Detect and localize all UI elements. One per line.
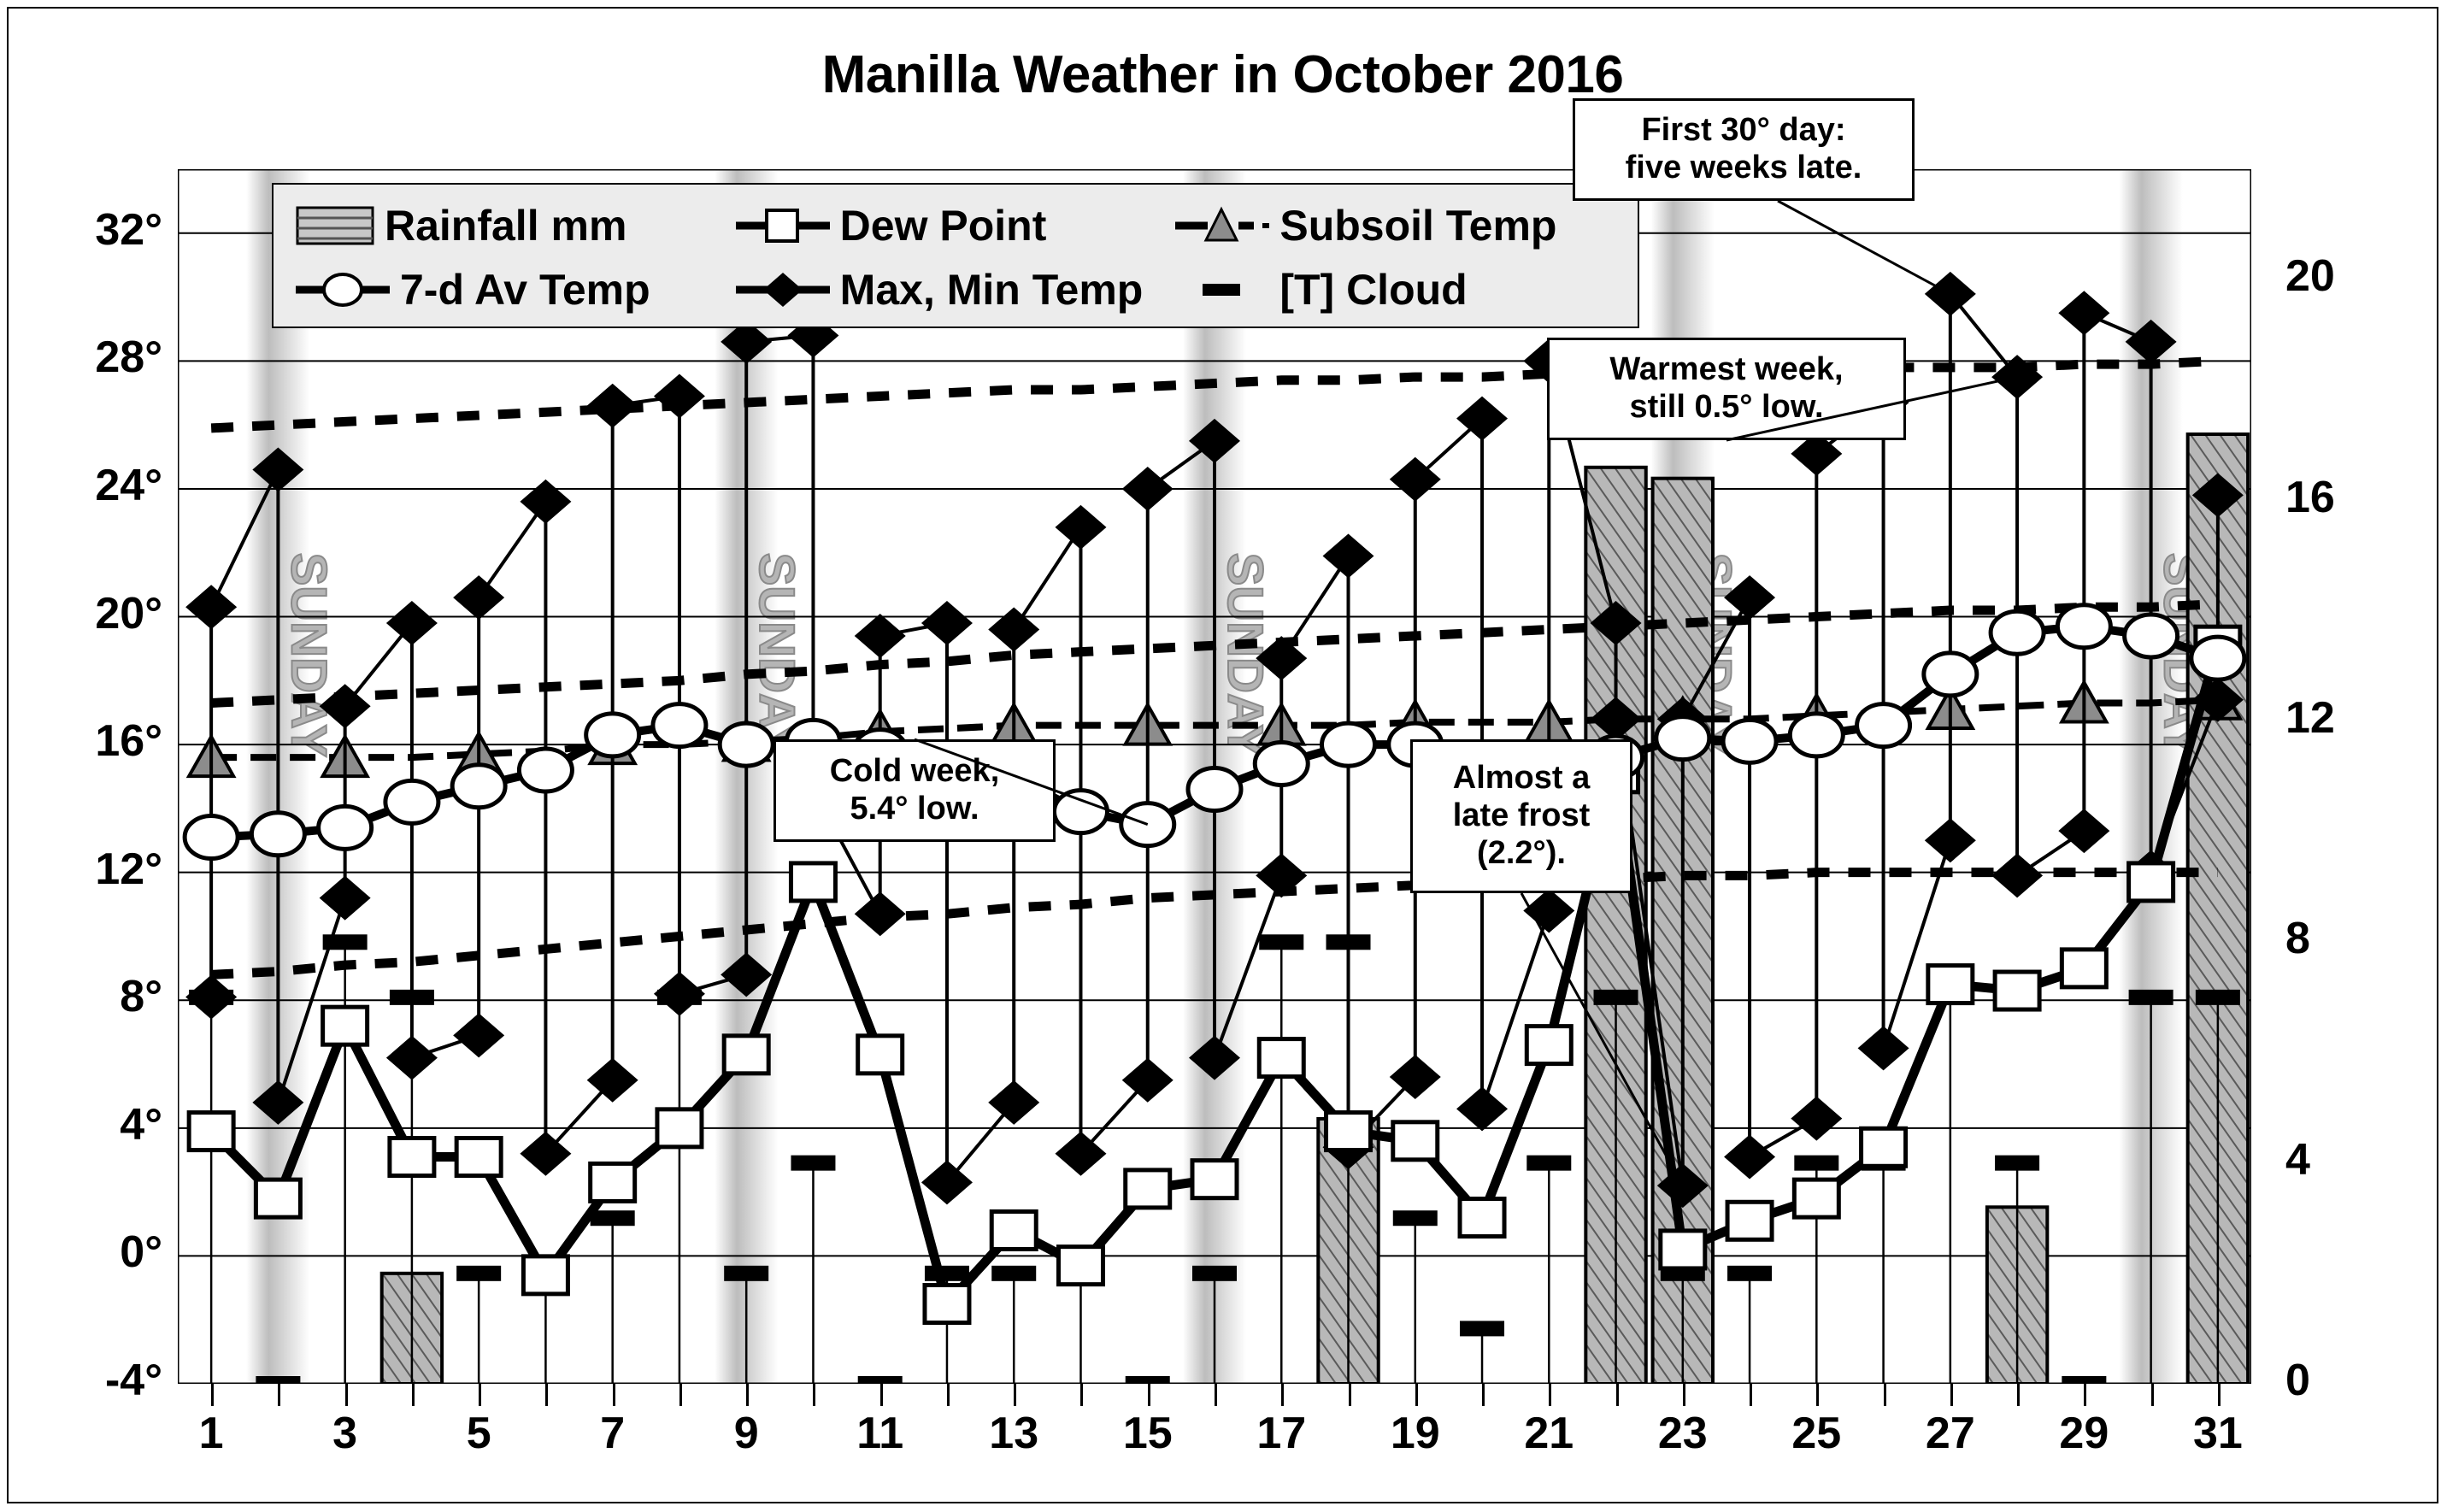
avg-marker (1723, 720, 1776, 762)
x-axis-tick (880, 1384, 883, 1406)
maxmin-marker (654, 972, 705, 1016)
avg-marker (1188, 768, 1241, 810)
cloud-marker (1192, 1266, 1237, 1281)
y-axis-tick-label: 28° (17, 332, 162, 383)
y-axis-tick-label: 0° (17, 1227, 162, 1278)
maxmin-marker (520, 1132, 571, 1176)
x-axis-tick-label: 7 (562, 1408, 664, 1459)
x-axis-tick-label: 1 (160, 1408, 262, 1459)
dewpoint-marker (657, 1109, 702, 1147)
cloud-marker (591, 1210, 635, 1226)
maxmin-marker (1390, 1055, 1441, 1099)
maxmin-marker (1925, 818, 1976, 862)
maxmin-marker (855, 891, 906, 936)
maxmin-marker (1456, 1086, 1508, 1131)
avg-marker (452, 765, 505, 808)
chart-legend: Rainfall mmDew PointSubsoil Temp7-d Av T… (272, 183, 1639, 328)
legend-item[interactable]: Rainfall mm (296, 201, 736, 250)
x-axis-tick (2017, 1384, 2020, 1406)
annotation-line: still 0.5° low. (1558, 389, 1895, 427)
annotation-line: late frost (1421, 797, 1621, 835)
y-axis-tick-label: 16° (17, 715, 162, 767)
annotation-callout-late-frost: Almost alate frost(2.2°). (1410, 739, 1632, 893)
maxmin-marker (185, 975, 237, 1020)
maxmin-marker (320, 876, 371, 921)
legend-item-label: Subsoil Temp (1279, 201, 1556, 250)
x-axis-tick (1014, 1384, 1016, 1406)
dewpoint-marker (523, 1256, 568, 1294)
y2-axis-tick-label: 4 (2285, 1134, 2388, 1185)
legend-item[interactable]: Subsoil Temp (1175, 201, 1615, 250)
avg-marker (1121, 803, 1174, 846)
x-axis-tick (746, 1384, 749, 1406)
avg-marker (519, 749, 572, 791)
x-axis-tick (1148, 1384, 1150, 1406)
x-axis-tick (1884, 1384, 1886, 1406)
cloud-marker (1794, 1156, 1838, 1171)
dewpoint-marker (591, 1163, 635, 1201)
avg-marker (720, 723, 773, 766)
avg-marker (1857, 704, 1910, 747)
cloud-marker (1393, 1210, 1438, 1226)
maxmin-marker (386, 601, 438, 645)
dewpoint-marker (791, 863, 835, 901)
y-axis-tick-label: 4° (17, 1099, 162, 1150)
x-axis-tick-label: 9 (695, 1408, 797, 1459)
dewpoint-marker (1995, 972, 2039, 1009)
maxmin-marker (1523, 889, 1574, 933)
maxmin-marker (1055, 1132, 1106, 1176)
maxmin-marker (453, 575, 504, 620)
x-axis-tick-label: 23 (1632, 1408, 1734, 1459)
y2-axis-tick-label: 0 (2285, 1355, 2388, 1406)
chart-frame: Manilla Weather in October 2016 SUNDAYSU… (7, 7, 2438, 1503)
x-axis-tick-label: 19 (1364, 1408, 1467, 1459)
dewpoint-marker (1393, 1122, 1438, 1160)
dewpoint-marker (189, 1113, 233, 1150)
annotation-callout-cold-week: Cold week,5.4° low. (774, 739, 1056, 842)
avg-marker (2057, 605, 2110, 648)
annotation-line: 5.4° low. (785, 791, 1044, 828)
maxmin-marker (2058, 291, 2109, 335)
maxmin-marker (921, 601, 973, 645)
x-axis-tick (2084, 1384, 2086, 1406)
cloud-marker (1594, 990, 1638, 1005)
dewpoint-marker (1661, 1231, 1705, 1268)
x-axis-tick (211, 1384, 214, 1406)
x-axis-tick (1482, 1384, 1485, 1406)
avg-marker (1790, 714, 1843, 756)
y2-axis-tick-label: 12 (2285, 692, 2388, 744)
x-axis-tick (345, 1384, 348, 1406)
avg-marker (1924, 653, 1977, 696)
legend-item-label: Dew Point (840, 201, 1047, 250)
x-axis-tick (813, 1384, 815, 1406)
cloud-marker (256, 1376, 300, 1384)
avg-marker (2125, 615, 2178, 657)
cloud-marker (1526, 1156, 1571, 1171)
avg-marker (586, 714, 639, 756)
dewpoint-marker (925, 1285, 969, 1323)
dewpoint-marker (2062, 950, 2106, 987)
y-axis-tick-label: 8° (17, 971, 162, 1022)
dewpoint-marker (991, 1212, 1036, 1250)
x-axis-tick (613, 1384, 615, 1406)
legend-item-label: [T] Cloud (1279, 265, 1467, 315)
dewpoint-marker (1794, 1180, 1838, 1217)
x-axis-tick (1816, 1384, 1819, 1406)
y-axis-tick-label: 24° (17, 460, 162, 511)
maxmin-marker (1122, 1058, 1174, 1103)
dewpoint-marker (2129, 863, 2173, 901)
y-axis-tick-label: 32° (17, 204, 162, 256)
cloud-marker (1995, 1156, 2039, 1171)
maxmin-marker (1256, 853, 1307, 897)
maxmin-marker (453, 1013, 504, 1057)
annotation-callout-warmest-week: Warmest week,still 0.5° low. (1547, 338, 1906, 440)
x-axis-tick (2218, 1384, 2221, 1406)
diamond-filled-marker-icon (736, 270, 830, 309)
y-axis-tick-label: 12° (17, 844, 162, 895)
circle-open-marker-icon (296, 270, 390, 309)
maxmin-marker (1858, 1026, 1909, 1070)
y-axis-tick-label: 20° (17, 588, 162, 639)
dash-marker-icon (1175, 270, 1269, 309)
maxmin-marker (587, 1058, 638, 1103)
avg-marker (251, 813, 304, 856)
cloud-marker (1259, 934, 1303, 950)
x-axis-tick (1349, 1384, 1351, 1406)
avg-marker (319, 806, 372, 849)
cloud-marker (1126, 1376, 1170, 1384)
avg-marker (185, 816, 238, 859)
x-axis-tick (1215, 1384, 1217, 1406)
dewpoint-marker (1862, 1128, 1906, 1166)
legend-item[interactable]: [T] Cloud (1175, 265, 1615, 315)
cloud-marker (1727, 1266, 1772, 1281)
dewpoint-marker (390, 1138, 434, 1175)
avg-marker (1656, 717, 1709, 760)
x-axis-tick (1281, 1384, 1284, 1406)
cloud-marker (858, 1376, 903, 1384)
dewpoint-marker (1058, 1247, 1103, 1285)
dewpoint-marker (1259, 1039, 1303, 1077)
x-axis-tick (412, 1384, 415, 1406)
cloud-marker (991, 1266, 1036, 1281)
avg-marker (2191, 637, 2244, 680)
maxmin-marker (587, 384, 638, 428)
x-axis-tick-label: 3 (294, 1408, 397, 1459)
x-axis-tick (1683, 1384, 1685, 1406)
legend-item-label: 7-d Av Temp (400, 265, 650, 315)
maxmin-marker (386, 1036, 438, 1080)
chart-svg: SUNDAYSUNDAYSUNDAYSUNDAYSUNDAY (178, 169, 2251, 1384)
annotation-line: Almost a (1421, 760, 1621, 797)
cloud-marker (2062, 1376, 2106, 1384)
dewpoint-marker (456, 1138, 501, 1175)
maxmin-marker (2058, 809, 2109, 853)
x-axis-tick (1080, 1384, 1083, 1406)
dewpoint-marker (1126, 1170, 1170, 1208)
maxmin-marker (1791, 1097, 1842, 1141)
x-axis-tick (2151, 1384, 2154, 1406)
maxmin-marker (520, 479, 571, 524)
page-title: Manilla Weather in October 2016 (9, 44, 2437, 105)
x-axis-tick (1616, 1384, 1619, 1406)
dewpoint-marker (1727, 1202, 1772, 1239)
x-axis-tick (679, 1384, 682, 1406)
dewpoint-marker (323, 1007, 368, 1044)
avg-marker (1991, 611, 2044, 654)
cloud-marker (1460, 1321, 1504, 1336)
legend-item-label: Max, Min Temp (840, 265, 1144, 315)
x-axis-tick-label: 27 (1899, 1408, 2002, 1459)
cloud-marker (791, 1156, 835, 1171)
sunday-label: SUNDAY (280, 553, 336, 758)
dewpoint-marker (256, 1180, 300, 1217)
annotation-line: Warmest week, (1558, 351, 1895, 389)
annotation-line: (2.2°). (1421, 835, 1621, 873)
x-axis-tick-label: 25 (1765, 1408, 1868, 1459)
dewpoint-marker (858, 1036, 903, 1074)
maxmin-marker (1724, 1134, 1775, 1179)
maxmin-marker (1925, 272, 1976, 316)
annotation-line: five weeks late. (1584, 150, 1903, 187)
legend-item[interactable]: 7-d Av Temp (296, 265, 736, 315)
x-axis-tick (1549, 1384, 1551, 1406)
maxmin-marker (1122, 467, 1174, 511)
dewpoint-marker (1326, 1113, 1371, 1150)
x-axis-tick (278, 1384, 280, 1406)
maxmin-marker (988, 607, 1039, 651)
x-axis-tick-label: 17 (1230, 1408, 1332, 1459)
x-axis-tick-label: 21 (1497, 1408, 1600, 1459)
x-axis-tick-label: 13 (962, 1408, 1065, 1459)
x-axis-tick (545, 1384, 548, 1406)
avg-marker (653, 704, 706, 747)
x-axis-tick-label: 15 (1097, 1408, 1199, 1459)
annotation-callout-first-30: First 30° day:five weeks late. (1573, 98, 1915, 201)
y2-axis-tick-label: 16 (2285, 472, 2388, 523)
maxmin-marker (921, 1160, 973, 1204)
maxmin-marker (1991, 853, 2043, 897)
dewpoint-marker (1526, 1027, 1571, 1064)
x-axis-tick (1950, 1384, 1953, 1406)
maxmin-marker (185, 585, 237, 629)
x-axis-tick (479, 1384, 481, 1406)
x-axis-tick-label: 5 (427, 1408, 530, 1459)
x-axis-tick (1415, 1384, 1418, 1406)
x-axis-tick-label: 29 (2032, 1408, 2135, 1459)
maxmin-marker (654, 374, 705, 419)
dewpoint-marker (724, 1036, 768, 1074)
x-axis-tick (1750, 1384, 1752, 1406)
cloud-marker (2129, 990, 2173, 1005)
annotation-line: Cold week, (785, 753, 1044, 791)
plot-area: SUNDAYSUNDAYSUNDAYSUNDAYSUNDAY (178, 169, 2251, 1384)
dewpoint-marker (1928, 966, 1973, 1003)
triangle-grey-marker-icon (1175, 206, 1269, 245)
avg-marker (1255, 743, 1308, 785)
square-open-marker-icon (736, 206, 830, 245)
rainfall-swatch-icon (296, 206, 374, 245)
x-axis-tick (947, 1384, 950, 1406)
y2-axis-tick-label: 20 (2285, 250, 2388, 302)
legend-item[interactable]: Max, Min Temp (736, 265, 1176, 315)
legend-item-label: Rainfall mm (385, 201, 626, 250)
avg-marker (385, 780, 438, 823)
dewpoint-marker (1192, 1161, 1237, 1198)
x-axis-tick-label: 31 (2167, 1408, 2269, 1459)
annotation-line: First 30° day: (1584, 112, 1903, 150)
avg-marker (1054, 791, 1107, 833)
cloud-marker (925, 1266, 969, 1281)
cloud-marker (724, 1266, 768, 1281)
maxmin-marker (988, 1080, 1039, 1125)
dewpoint-marker (1460, 1199, 1504, 1237)
y-axis-tick-label: -4° (17, 1355, 162, 1406)
cloud-marker (2196, 990, 2240, 1005)
x-axis-tick-label: 11 (829, 1408, 932, 1459)
legend-item[interactable]: Dew Point (736, 201, 1176, 250)
cloud-marker (456, 1266, 501, 1281)
maxmin-marker (855, 614, 906, 658)
avg-marker (1322, 723, 1375, 766)
maxmin-marker (1055, 505, 1106, 550)
maxmin-marker (1323, 533, 1374, 578)
y2-axis-tick-label: 8 (2285, 913, 2388, 964)
